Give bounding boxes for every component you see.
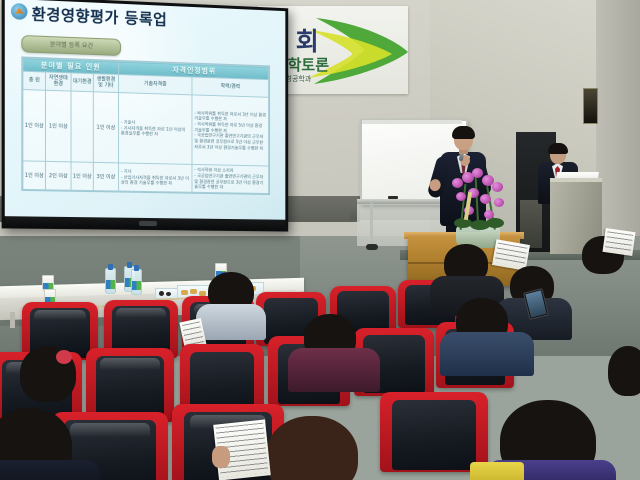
official-hair — [548, 143, 568, 154]
hair-tie — [56, 350, 72, 364]
program-booklet — [602, 228, 635, 256]
audience-head — [266, 416, 358, 480]
slide-table: 분야별 필요 인원 자격인정범위 총 원 자연생태환경 대기환경 생활환경 및 … — [21, 56, 270, 195]
row1-career: - 석사학위 이상 소지자 - 국공립연구기관 출연연구기관의 근무자 및 환경… — [192, 165, 269, 194]
audience-head — [608, 346, 640, 396]
row0-cell0: 1인 이상 — [23, 90, 46, 162]
whiteboard-foot-left — [366, 244, 378, 250]
row1-qualification: - 기사 - 산업기사자격을 취득한 자로서 3년 이상의 환경 기술무를 수행… — [118, 163, 192, 192]
audience-shoulders — [288, 348, 380, 392]
whiteboard-marker-icon — [388, 196, 398, 199]
table-col-1: 자연생태환경 — [46, 72, 71, 91]
row1-cell1: 2인 이상 — [46, 162, 71, 191]
audience-shoulders — [196, 304, 266, 340]
audience-shoulders — [440, 332, 534, 376]
row0-cell3: 1인 이상 — [93, 92, 118, 163]
lecture-hall-scene: 수 회 구전학토론 고급 환경공학과 환경영향평가 등록업 분야별 등록 요건 … — [0, 0, 640, 480]
reader-hand — [212, 446, 230, 468]
row0-cell1: 1인 이상 — [46, 90, 71, 162]
banner-swoosh-icon — [308, 14, 408, 88]
screen-pull-handle[interactable] — [139, 221, 157, 226]
table-col-3: 생활환경 및 기타 — [93, 74, 118, 93]
table-col-4: 기술자격증 — [118, 74, 192, 94]
slide-subtitle-bar: 분야별 등록 요건 — [21, 35, 121, 56]
row0-qualification: - 기술사 - 기사자격을 취득한 자로 1년 이상의 환경실무를 수행한 자 — [118, 93, 192, 165]
wall-corner — [596, 0, 640, 250]
audience-shoulders — [0, 460, 100, 480]
wall-speaker-icon — [583, 88, 598, 124]
seat-back — [96, 356, 164, 420]
whiteboard-stand-left — [370, 203, 373, 247]
presenter-hair — [452, 126, 475, 139]
table-row: 1인 이상 1인 이상 1인 이상 - 기술사 - 기사자격을 취득한 자로 1… — [23, 90, 269, 167]
water-bottle — [105, 268, 116, 294]
slide-subtitle-text: 분야별 등록 요건 — [22, 36, 120, 55]
yellow-scarf — [470, 462, 524, 480]
table-col-2: 대기환경 — [71, 73, 94, 92]
audience-area — [0, 300, 640, 480]
whiteboard-top-trim — [362, 120, 462, 124]
water-bottle — [131, 269, 142, 295]
projected-slide: 환경영향평가 등록업 분야별 등록 요건 분야별 필요 인원 자격인정범위 총 … — [5, 0, 286, 220]
projection-screen: 환경영향평가 등록업 분야별 등록 요건 분야별 필요 인원 자격인정범위 총 … — [2, 0, 289, 232]
presenter-left-hand — [428, 178, 442, 193]
orchid-plant — [444, 166, 516, 248]
row1-cell0: 1인 이상 — [23, 161, 46, 190]
row0-cell2 — [71, 91, 94, 163]
seat-back — [392, 400, 476, 470]
table-col-0: 총 원 — [23, 71, 46, 90]
row1-cell3: 3인 이상 — [93, 163, 118, 191]
table-row: 1인 이상 2인 이상 1인 이상 3인 이상 - 기사 - 산업기사자격을 취… — [23, 161, 269, 193]
org-emblem-icon — [11, 3, 28, 20]
row0-career: - 박사학위를 취득한 자로서 3년 이상 환경 기술무를 수행한 자 - 석사… — [192, 95, 269, 166]
row1-cell2: 1인 이상 — [71, 162, 94, 190]
